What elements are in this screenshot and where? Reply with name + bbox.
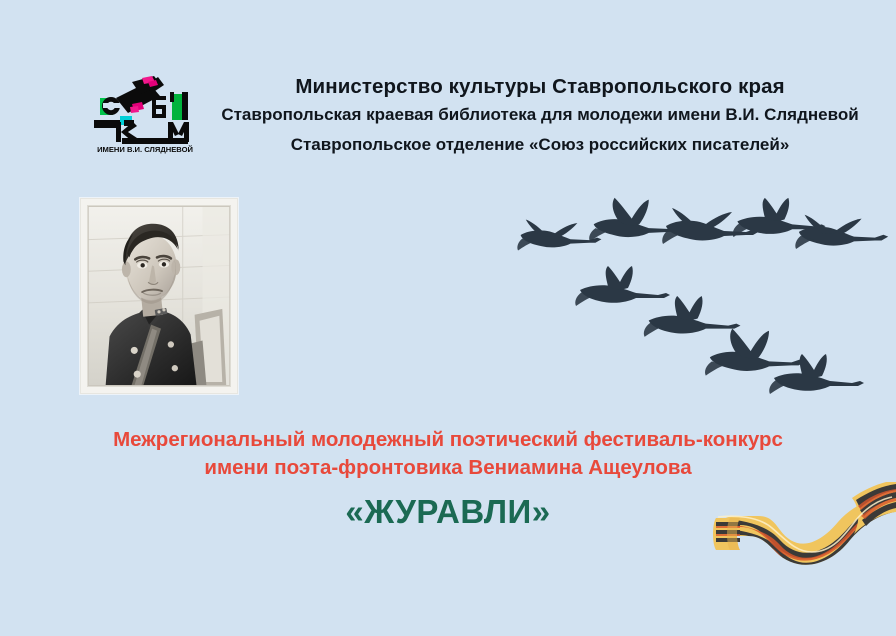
logo-caption-text: ИМЕНИ В.И. СЛЯДНЕВОЙ [97, 145, 193, 154]
festival-poster: ИМЕНИ В.И. СЛЯДНЕВОЙ Министерство культу… [0, 0, 896, 636]
flying-cranes-flock [512, 192, 896, 400]
portrait-frame [80, 198, 238, 394]
ministry-of-culture-line: Министерство культуры Ставропольского кр… [196, 74, 884, 100]
organisation-names: Министерство культуры Ставропольского кр… [196, 74, 884, 160]
veniamin-ashcheulov-portrait [87, 205, 231, 387]
saint-george-ribbon [700, 482, 896, 592]
poster-header: ИМЕНИ В.И. СЛЯДНЕВОЙ Министерство культу… [0, 74, 896, 184]
skbm-library-logo: ИМЕНИ В.И. СЛЯДНЕВОЙ [86, 76, 204, 154]
regional-library-line: Ставропольская краевая библиотека для мо… [196, 100, 884, 130]
festival-title-line-2: имени поэта-фронтовика Вениамина Ащеулов… [0, 454, 896, 482]
writers-union-line: Ставропольское отделение «Союз российски… [196, 130, 884, 160]
festival-title-line-1: Межрегиональный молодежный поэтический ф… [0, 426, 896, 454]
